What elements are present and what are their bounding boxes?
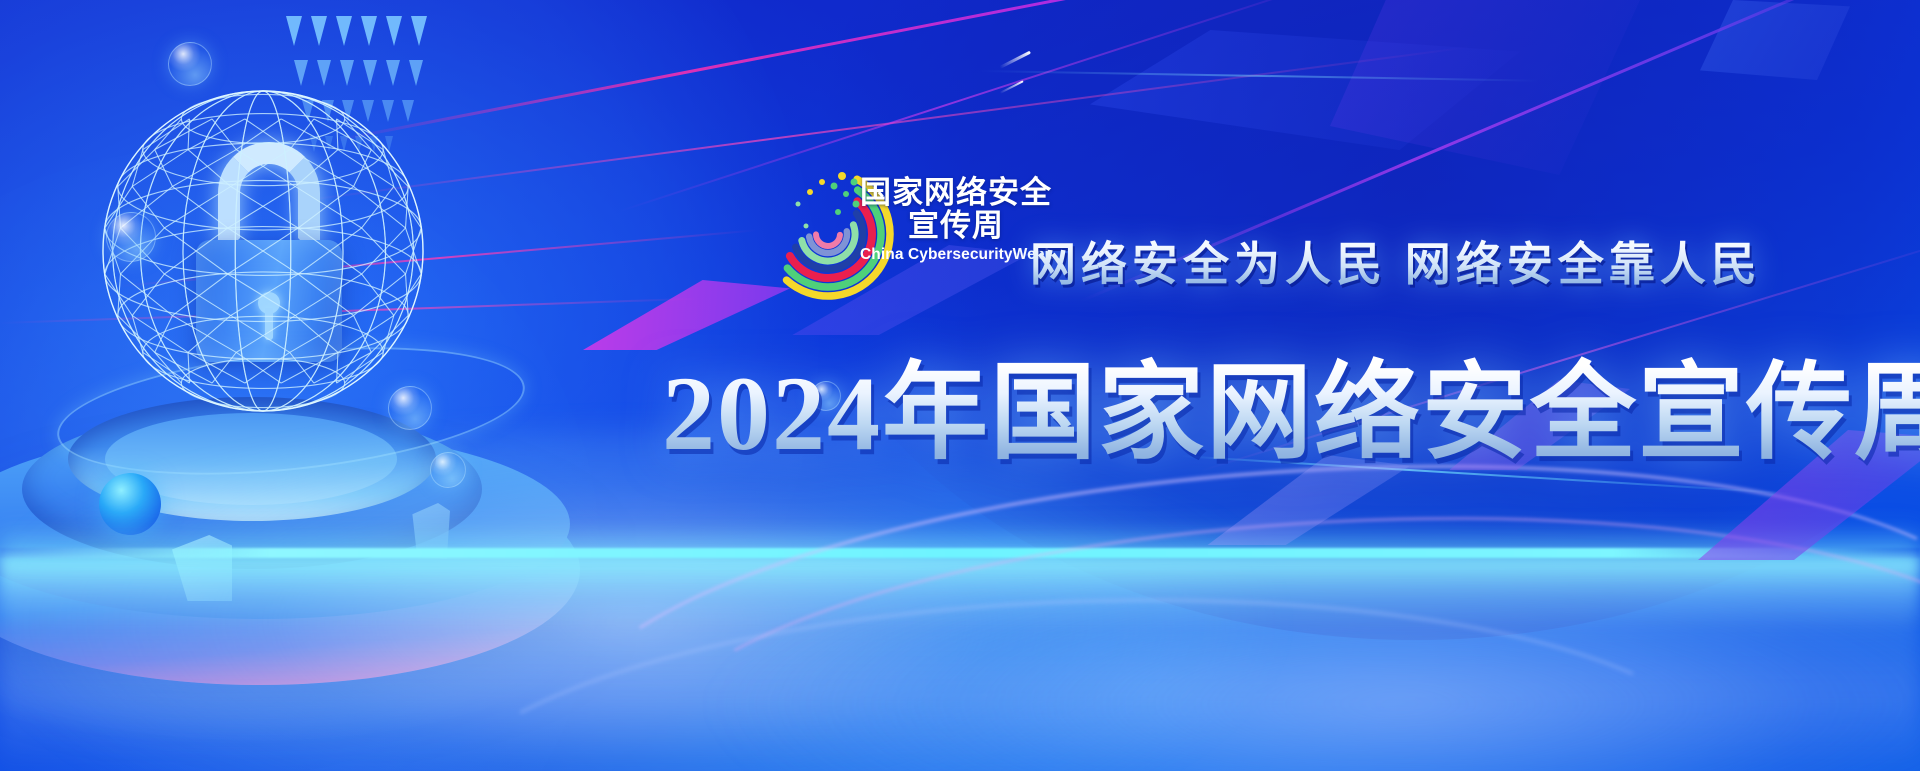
decor-shard-1 <box>1090 30 1520 150</box>
logo-chinese-line-1: 国家网络安全 <box>860 176 1052 209</box>
swoosh-curve-3 <box>424 577 1736 771</box>
decor-bubble-1 <box>168 42 212 86</box>
decor-shard-2 <box>1330 0 1640 175</box>
logo-text-block: 国家网络安全 宣传周 China CybersecurityWeek <box>860 176 1052 264</box>
background-dark-veil-right <box>790 0 1920 640</box>
decor-cyan-trail-2 <box>980 70 1540 82</box>
china-cybersecurity-week-logo: 国家网络安全 宣传周 China CybersecurityWeek <box>750 168 1050 300</box>
decor-triangle <box>311 16 327 46</box>
banner-slogan: 网络安全为人民 网络安全靠人民 <box>1030 228 1762 294</box>
banner-main-title: 2024年国家网络安全宣传周 <box>662 326 1920 480</box>
cybersecurity-week-banner: 国家网络安全 宣传周 China CybersecurityWeek 网络安全为… <box>0 0 1920 771</box>
decor-comet-2 <box>1000 80 1024 94</box>
light-wave-2 <box>700 560 1920 771</box>
decor-triangle <box>336 16 352 46</box>
decor-streak-magenta-1 <box>330 0 1430 143</box>
decor-triangle <box>294 60 308 86</box>
decor-triangle <box>361 16 377 46</box>
decor-comet-1 <box>999 51 1031 69</box>
logo-chinese-line-2: 宣传周 <box>860 209 1052 244</box>
swoosh-curve-2 <box>630 484 1920 771</box>
decor-triangle <box>411 16 427 46</box>
decor-triangle <box>386 60 400 86</box>
decor-triangle <box>363 60 377 86</box>
logo-english-line: China CybersecurityWeek <box>860 246 1052 264</box>
decor-triangle <box>340 60 354 86</box>
wireframe-globe <box>98 86 428 416</box>
decor-triangle <box>409 60 423 86</box>
decor-triangle <box>317 60 331 86</box>
decor-shard-5 <box>1700 0 1850 80</box>
decor-triangle <box>386 16 402 46</box>
decor-triangle <box>286 16 302 46</box>
